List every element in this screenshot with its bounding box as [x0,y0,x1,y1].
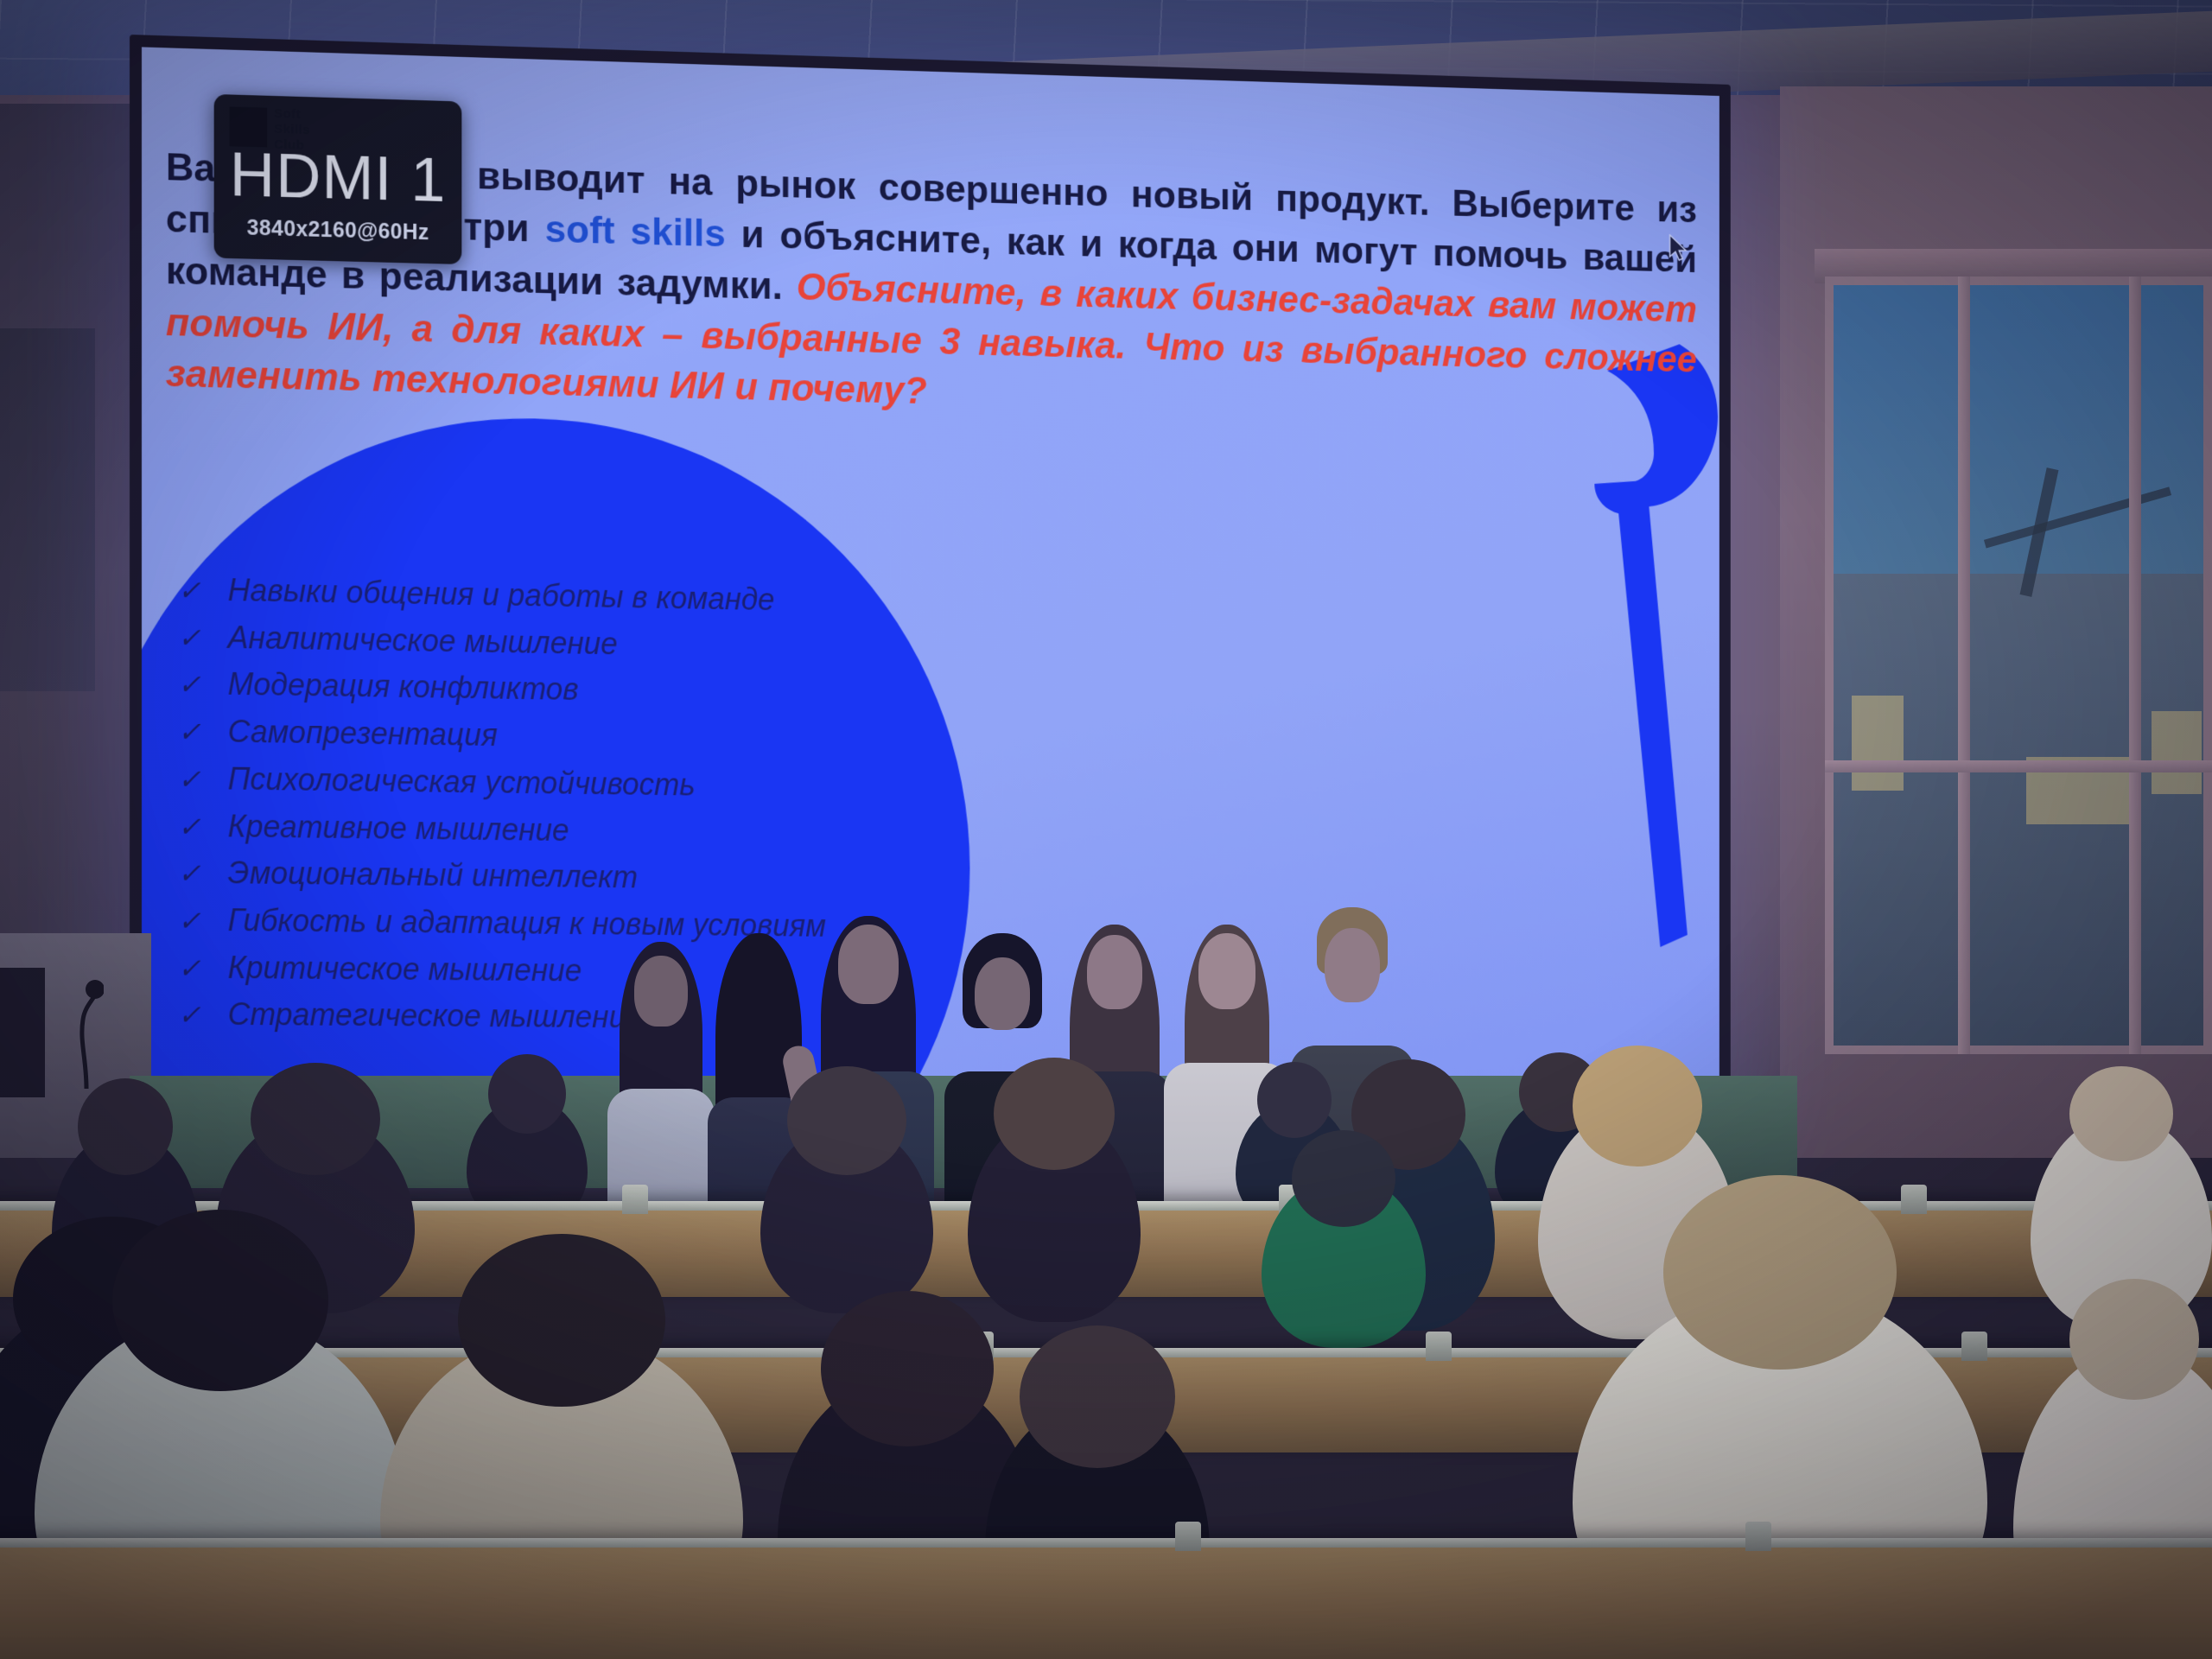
skill-label: Эмоциональный интеллект [228,850,639,902]
window-mullion-2 [2129,276,2141,1054]
logo-line-2: Skills [274,122,310,137]
skill-label: Модерация конфликтов [228,661,579,714]
mouse-cursor-icon [1669,234,1689,263]
check-icon: ✓ [178,759,197,801]
logo-line-1: Soft [274,106,301,122]
rail-post [1175,1522,1201,1551]
skill-label: Критическое мышление [228,944,582,995]
lecture-hall-scene: Ваша команда выводит на рынок совершенно… [0,0,2212,1659]
check-icon: ✓ [178,900,197,943]
window-glass [1834,285,2203,1046]
skill-label: Психологическая устойчивость [228,755,696,809]
check-icon: ✓ [178,805,197,848]
window-mullion-1 [1958,276,1970,1054]
window-transom [1825,760,2212,772]
skill-label: Стратегическое мышление [228,991,643,1041]
hdmi-resolution-label: 3840x2160@60Hz [214,215,462,247]
rail-post [1745,1522,1771,1551]
check-icon: ✓ [178,853,197,895]
opposite-building [1834,574,2203,1046]
desk-row-3 [0,1538,2212,1659]
check-icon: ✓ [178,569,197,612]
check-icon: ✓ [178,947,197,989]
hdmi-input-label: HDMI 1 [214,143,462,213]
lit-window-3 [2152,711,2202,794]
slide-text-softskills: soft skills [545,207,726,255]
lit-window-1 [1852,696,1904,791]
skill-label: Аналитическое мышление [228,614,618,668]
skill-label: Креативное мышление [228,803,569,854]
exterior-window [1825,276,2212,1054]
check-icon: ✓ [178,617,197,659]
check-icon: ✓ [178,995,197,1037]
skill-label: Самопрезентация [228,709,498,760]
left-wall-panel [0,328,95,691]
hdmi-input-overlay: Soft Skills Club HDMI 1 3840x2160@60Hz [214,94,462,264]
check-icon: ✓ [178,711,197,753]
desk-rail [0,1538,2212,1548]
check-icon: ✓ [178,664,197,706]
list-item: ✓Эмоциональный интеллект [178,849,1021,906]
